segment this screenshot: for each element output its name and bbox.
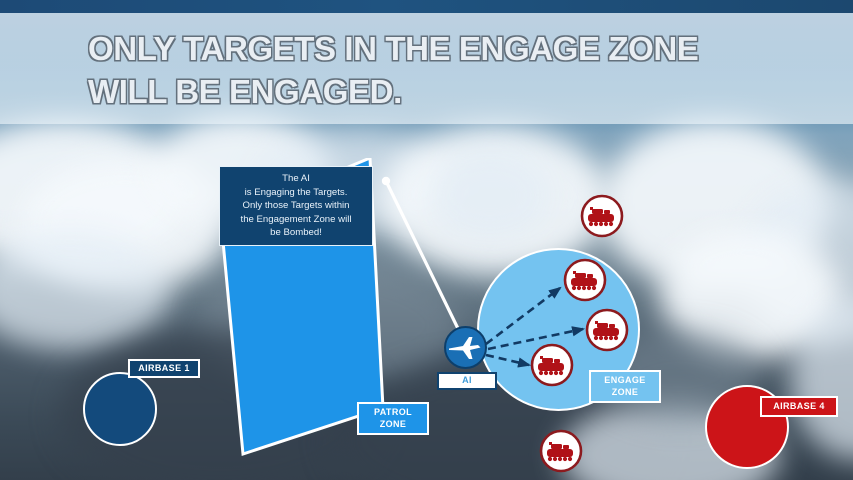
- target-icon[interactable]: [563, 258, 607, 302]
- label-engage-zone[interactable]: ENGAGE ZONE: [589, 370, 661, 403]
- target-icon[interactable]: [539, 429, 583, 473]
- top-accent-bar: [0, 0, 853, 13]
- callout-box[interactable]: The AI is Engaging the Targets. Only tho…: [219, 166, 373, 246]
- airbase-1-marker[interactable]: [83, 372, 157, 446]
- label-patrol-zone[interactable]: PATROL ZONE: [357, 402, 429, 435]
- fighter-jet-icon[interactable]: [443, 325, 488, 370]
- target-icon[interactable]: [530, 343, 574, 387]
- slide-canvas: ONLY TARGETS IN THE ENGAGE ZONE WILL BE …: [0, 0, 853, 480]
- page-title: ONLY TARGETS IN THE ENGAGE ZONE WILL BE …: [88, 28, 788, 114]
- target-icon[interactable]: [580, 194, 624, 238]
- label-ai[interactable]: AI: [437, 372, 497, 390]
- target-icon[interactable]: [585, 308, 629, 352]
- callout-text: The AI is Engaging the Targets. Only tho…: [241, 172, 352, 240]
- label-airbase-1[interactable]: AIRBASE 1: [128, 359, 200, 378]
- label-airbase-4[interactable]: AIRBASE 4: [760, 396, 838, 417]
